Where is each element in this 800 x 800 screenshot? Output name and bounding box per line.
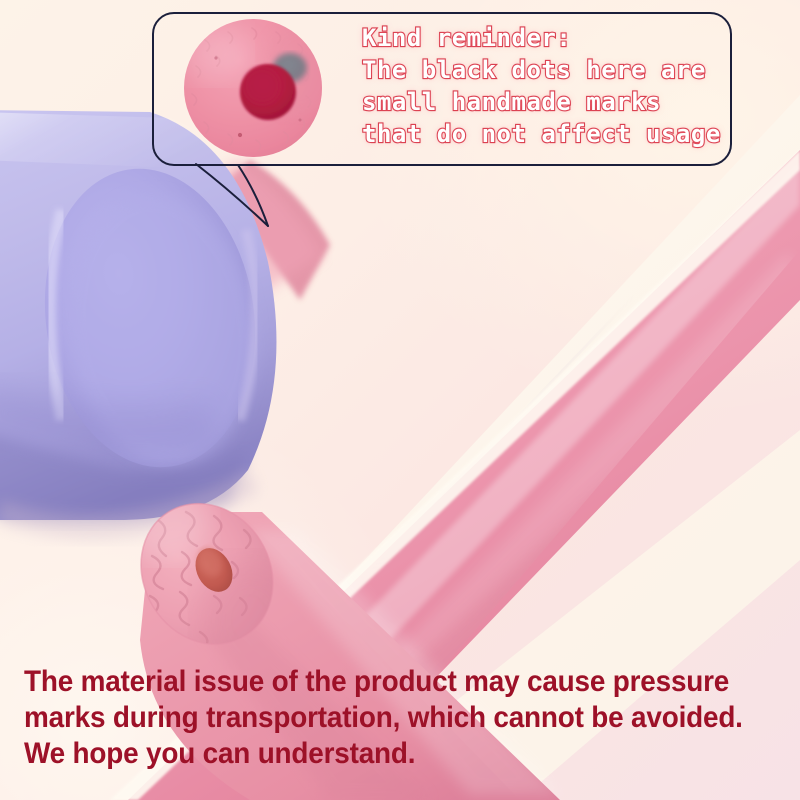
- callout-line-2: The black dots here are: [362, 54, 734, 86]
- product-image-canvas: Kind reminder: The black dots here are s…: [0, 0, 800, 800]
- caption-line-2: marks during transportation, which canno…: [24, 700, 736, 736]
- caption-line-1: The material issue of the product may ca…: [24, 664, 736, 700]
- callout-text-block: Kind reminder: The black dots here are s…: [362, 22, 734, 150]
- pressure-marks-disclaimer: The material issue of the product may ca…: [24, 664, 736, 772]
- callout-line-3: small handmade marks: [362, 86, 734, 118]
- caption-line-3: We hope you can understand.: [24, 736, 736, 772]
- callout-line-4: that do not affect usage: [362, 118, 734, 150]
- callout-line-1: Kind reminder:: [362, 22, 734, 54]
